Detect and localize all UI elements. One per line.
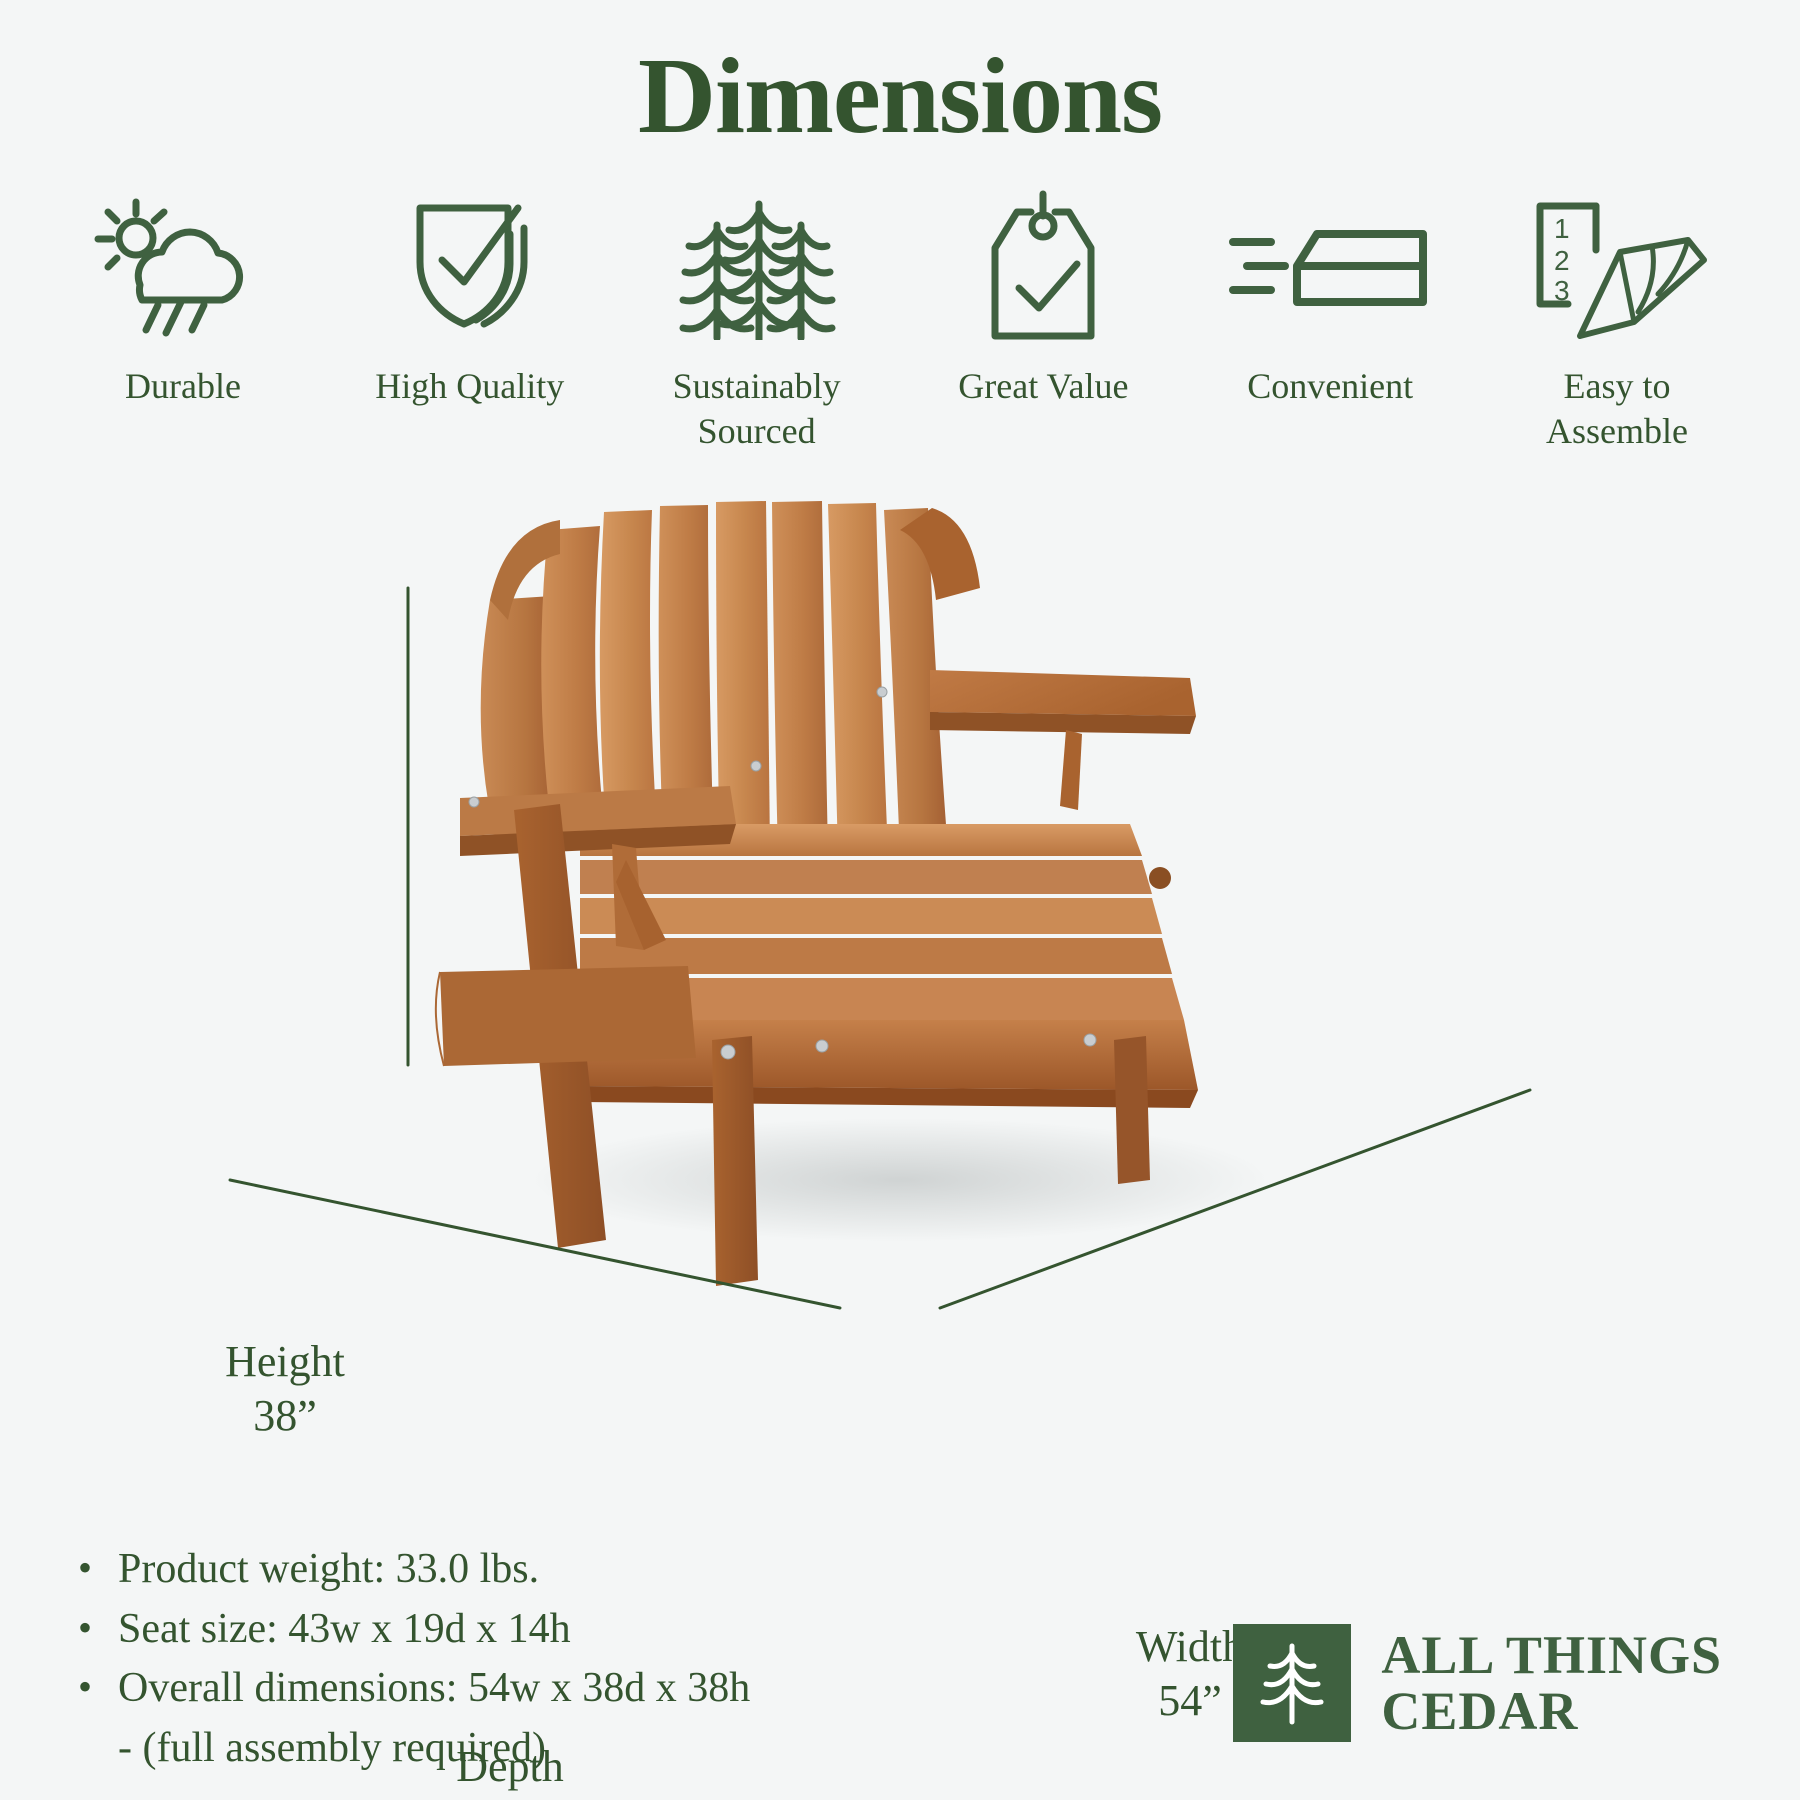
feature-item-great-value: Great Value xyxy=(900,190,1186,409)
brand-line-2: CEDAR xyxy=(1381,1683,1722,1739)
product-dimension-stage: Height 38” xyxy=(0,480,1800,1340)
height-label-value: 38” xyxy=(170,1389,400,1443)
list-item: Overall dimensions: 54w x 38d x 38h xyxy=(70,1659,750,1719)
svg-text:2: 2 xyxy=(1554,245,1570,276)
infographic-page: Dimensions xyxy=(0,0,1800,1800)
feature-item-high-quality: High Quality xyxy=(327,190,613,409)
feature-label: Durable xyxy=(125,364,241,409)
dimension-lines xyxy=(0,480,1800,1340)
price-tag-check-icon xyxy=(973,190,1113,340)
sun-cloud-rain-icon xyxy=(88,190,278,340)
list-item: Product weight: 33.0 lbs. xyxy=(70,1540,750,1600)
spec-list: Product weight: 33.0 lbs. Seat size: 43w… xyxy=(70,1540,750,1779)
instruction-sheet-plank-icon: 1 2 3 xyxy=(1522,190,1712,340)
feature-item-durable: Durable xyxy=(40,190,326,409)
brand-logo: ALL THINGS CEDAR xyxy=(1233,1624,1722,1742)
feature-item-easy-to-assemble: 1 2 3 Easy to Assemble xyxy=(1474,190,1760,454)
feature-label: Convenient xyxy=(1247,364,1413,409)
list-item: Seat size: 43w x 19d x 14h xyxy=(70,1600,750,1660)
height-label-text: Height xyxy=(170,1335,400,1389)
brand-logo-text: ALL THINGS CEDAR xyxy=(1381,1627,1722,1739)
list-item: - (full assembly required) xyxy=(70,1719,750,1779)
svg-text:3: 3 xyxy=(1554,275,1570,306)
feature-item-sustainably-sourced: Sustainably Sourced xyxy=(614,190,900,454)
svg-text:1: 1 xyxy=(1554,213,1570,244)
page-title: Dimensions xyxy=(0,38,1800,157)
brand-line-1: ALL THINGS xyxy=(1381,1627,1722,1683)
feature-label: High Quality xyxy=(375,364,564,409)
cedar-tree-logo-icon xyxy=(1233,1624,1351,1742)
fast-delivery-box-icon xyxy=(1225,190,1435,340)
shield-check-icon xyxy=(390,190,550,340)
dimension-label-height: Height 38” xyxy=(170,1335,400,1442)
pine-trees-icon xyxy=(667,190,847,340)
depth-label-value: 38” xyxy=(360,1794,660,1800)
feature-item-convenient: Convenient xyxy=(1187,190,1473,409)
feature-label: Sustainably Sourced xyxy=(637,364,877,454)
feature-list: Durable High Quality xyxy=(40,190,1760,454)
feature-label: Great Value xyxy=(958,364,1128,409)
feature-label: Easy to Assemble xyxy=(1497,364,1737,454)
